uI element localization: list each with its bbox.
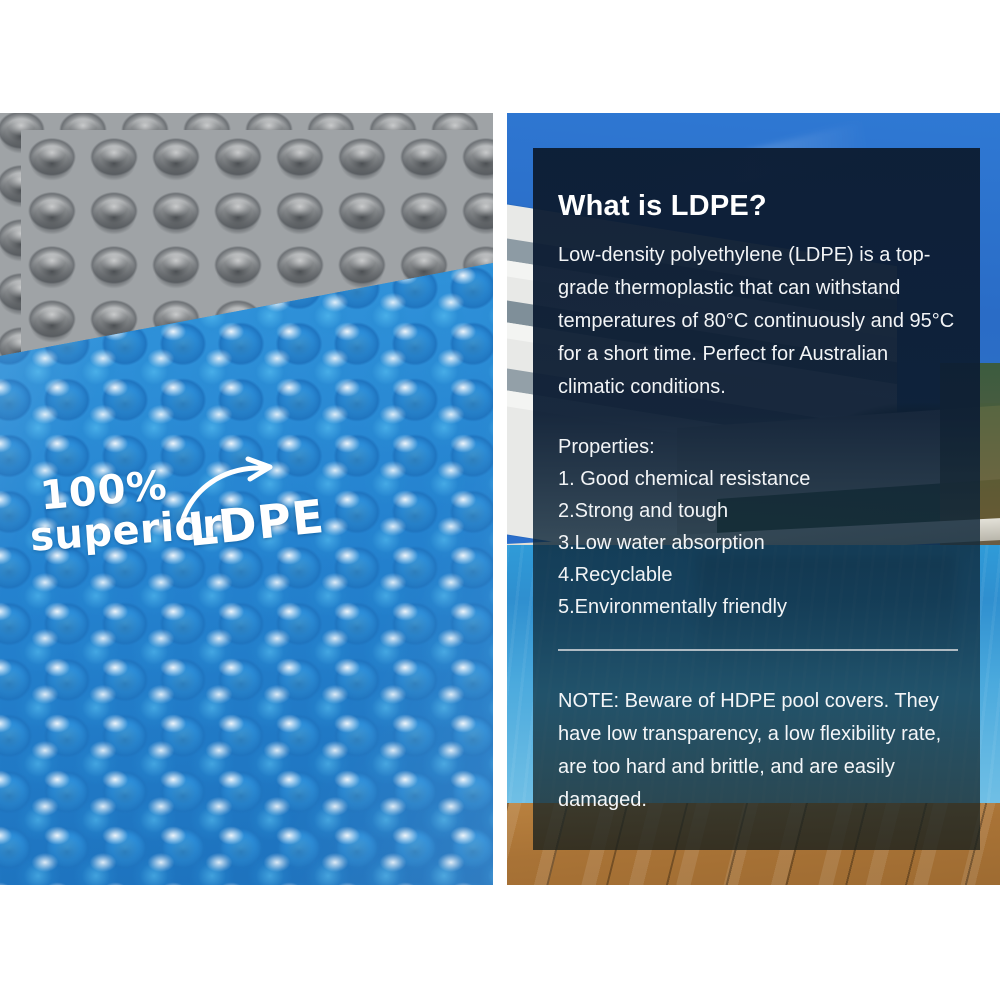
list-item: 3.Low water absorption [558, 527, 958, 559]
handwritten-callout: 100% superior LDPE [30, 468, 320, 573]
list-item: 4.Recyclable [558, 559, 958, 591]
properties-label: Properties: [558, 432, 958, 463]
pool-scene-photo: What is LDPE? Low-density polyethylene (… [507, 113, 1000, 885]
product-infographic: 100% superior LDPE What is LDPE? [0, 0, 1000, 1000]
info-overlay-card: What is LDPE? Low-density polyethylene (… [533, 148, 980, 850]
list-item: 1. Good chemical resistance [558, 463, 958, 495]
card-note: NOTE: Beware of HDPE pool covers. They h… [558, 685, 958, 817]
bubble-cover-photo: 100% superior LDPE [0, 113, 493, 885]
list-item: 5.Environmentally friendly [558, 591, 958, 623]
card-heading: What is LDPE? [558, 148, 958, 223]
list-item: 2.Strong and tough [558, 495, 958, 527]
card-intro-paragraph: Low-density polyethylene (LDPE) is a top… [558, 239, 958, 404]
section-divider [558, 649, 958, 651]
properties-list: 1. Good chemical resistance 2.Strong and… [558, 463, 958, 623]
